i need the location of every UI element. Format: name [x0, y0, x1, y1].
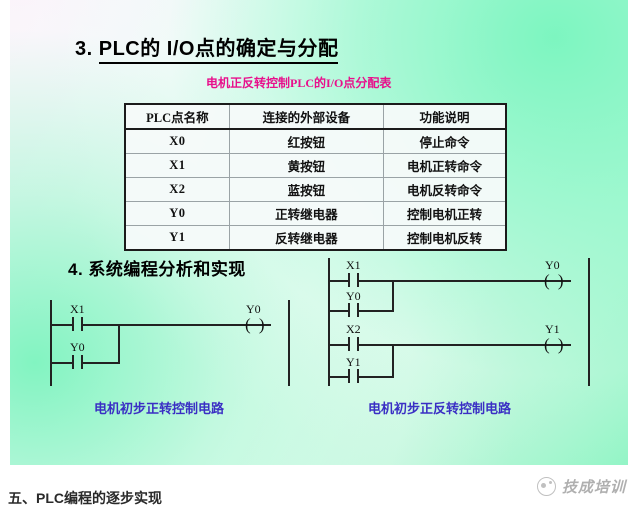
table-cell-point: Y0 [125, 202, 229, 226]
table-header-cell: PLC点名称 [125, 104, 229, 129]
coil-y1: ( ) [544, 336, 566, 353]
rung-wire [50, 324, 72, 326]
section-3-number: 3. [75, 38, 93, 60]
contact-bar-left [72, 355, 74, 369]
brand-logo-icon [537, 477, 556, 496]
coil-label-y0: Y0 [246, 302, 261, 317]
table-caption: 电机正反转控制PLC的I/O点分配表 [206, 74, 391, 91]
table-row: X1 黄按钮 电机正转命令 [125, 154, 506, 178]
section-4-heading: 4. 系统编程分析和实现 [68, 255, 246, 280]
coil-y0: ( ) [245, 316, 267, 333]
branch-vertical-wire [392, 280, 394, 312]
table-row: X0 红按钮 停止命令 [125, 129, 506, 154]
contact-label-x1: X1 [346, 258, 361, 273]
table-cell-point: X0 [125, 129, 229, 154]
footer-section-title: 五、PLC编程的逐步实现 [8, 488, 162, 508]
rung-wire [359, 280, 571, 282]
table-cell-function: 停止命令 [383, 129, 506, 154]
branch-contact-label-y1: Y1 [346, 355, 361, 370]
ladder-diagram-left: X1 ( ) Y0 Y0 [50, 300, 290, 390]
branch-contact-label-y0: Y0 [346, 289, 361, 304]
branch-vertical-wire [118, 324, 120, 364]
rung-wire [359, 344, 571, 346]
section-3-title: PLC的 I/O点的确定与分配 [99, 38, 339, 64]
table-cell-device: 反转继电器 [229, 226, 383, 251]
rung-wire [328, 280, 348, 282]
right-power-rail [588, 258, 590, 386]
coil-y0: ( ) [544, 272, 566, 289]
branch-wire [83, 362, 120, 364]
table-cell-point: X2 [125, 178, 229, 202]
right-power-rail [288, 300, 290, 386]
ladder-left-caption: 电机初步正转控制电路 [94, 398, 224, 417]
coil-label-y0: Y0 [545, 258, 560, 273]
contact-y1 [348, 369, 359, 383]
table-cell-device: 正转继电器 [229, 202, 383, 226]
contact-x2 [348, 337, 359, 351]
contact-x1 [72, 317, 83, 331]
contact-label-x1: X1 [70, 302, 85, 317]
table-row: Y1 反转继电器 控制电机反转 [125, 226, 506, 251]
contact-bar-left [72, 317, 74, 331]
ladder-diagram-right: X1 ( ) Y0 Y0 X2 ( ) Y1 Y1 [328, 258, 590, 388]
rung-wire [83, 324, 271, 326]
section-4-title: 系统编程分析和实现 [88, 260, 246, 279]
branch-contact-label-y0: Y0 [70, 340, 85, 355]
contact-x1 [348, 273, 359, 287]
ladder-right-caption: 电机初步正反转控制电路 [368, 398, 511, 417]
table-cell-function: 控制电机正转 [383, 202, 506, 226]
rung-wire [328, 344, 348, 346]
branch-wire [50, 362, 72, 364]
contact-y0 [72, 355, 83, 369]
table-cell-point: X1 [125, 154, 229, 178]
table-cell-function: 电机反转命令 [383, 178, 506, 202]
table-cell-device: 黄按钮 [229, 154, 383, 178]
coil-label-y1: Y1 [545, 322, 560, 337]
watermark-text: 技成培训 [562, 476, 626, 497]
branch-wire [359, 310, 394, 312]
contact-bar-left [348, 337, 350, 351]
watermark: 技成培训 [537, 476, 626, 497]
table-cell-function: 控制电机反转 [383, 226, 506, 251]
slide-canvas: 3. PLC的 I/O点的确定与分配 电机正反转控制PLC的I/O点分配表 PL… [10, 0, 628, 465]
table-header-cell: 功能说明 [383, 104, 506, 129]
section-4-number: 4. [68, 260, 83, 279]
table-header-row: PLC点名称 连接的外部设备 功能说明 [125, 104, 506, 129]
contact-y0 [348, 303, 359, 317]
table-row: Y0 正转继电器 控制电机正转 [125, 202, 506, 226]
branch-wire [328, 310, 348, 312]
table-cell-function: 电机正转命令 [383, 154, 506, 178]
branch-wire [328, 376, 348, 378]
contact-bar-left [348, 303, 350, 317]
branch-vertical-wire [392, 344, 394, 378]
table-row: X2 蓝按钮 电机反转命令 [125, 178, 506, 202]
contact-label-x2: X2 [346, 322, 361, 337]
contact-bar-left [348, 369, 350, 383]
io-allocation-table: PLC点名称 连接的外部设备 功能说明 X0 红按钮 停止命令 X1 黄按钮 电… [124, 103, 507, 251]
table-header-cell: 连接的外部设备 [229, 104, 383, 129]
section-3-heading: 3. PLC的 I/O点的确定与分配 [75, 32, 338, 61]
contact-bar-left [348, 273, 350, 287]
left-power-rail [50, 300, 52, 386]
table-cell-device: 蓝按钮 [229, 178, 383, 202]
table-cell-device: 红按钮 [229, 129, 383, 154]
table-cell-point: Y1 [125, 226, 229, 251]
branch-wire [359, 376, 394, 378]
left-power-rail [328, 258, 330, 386]
